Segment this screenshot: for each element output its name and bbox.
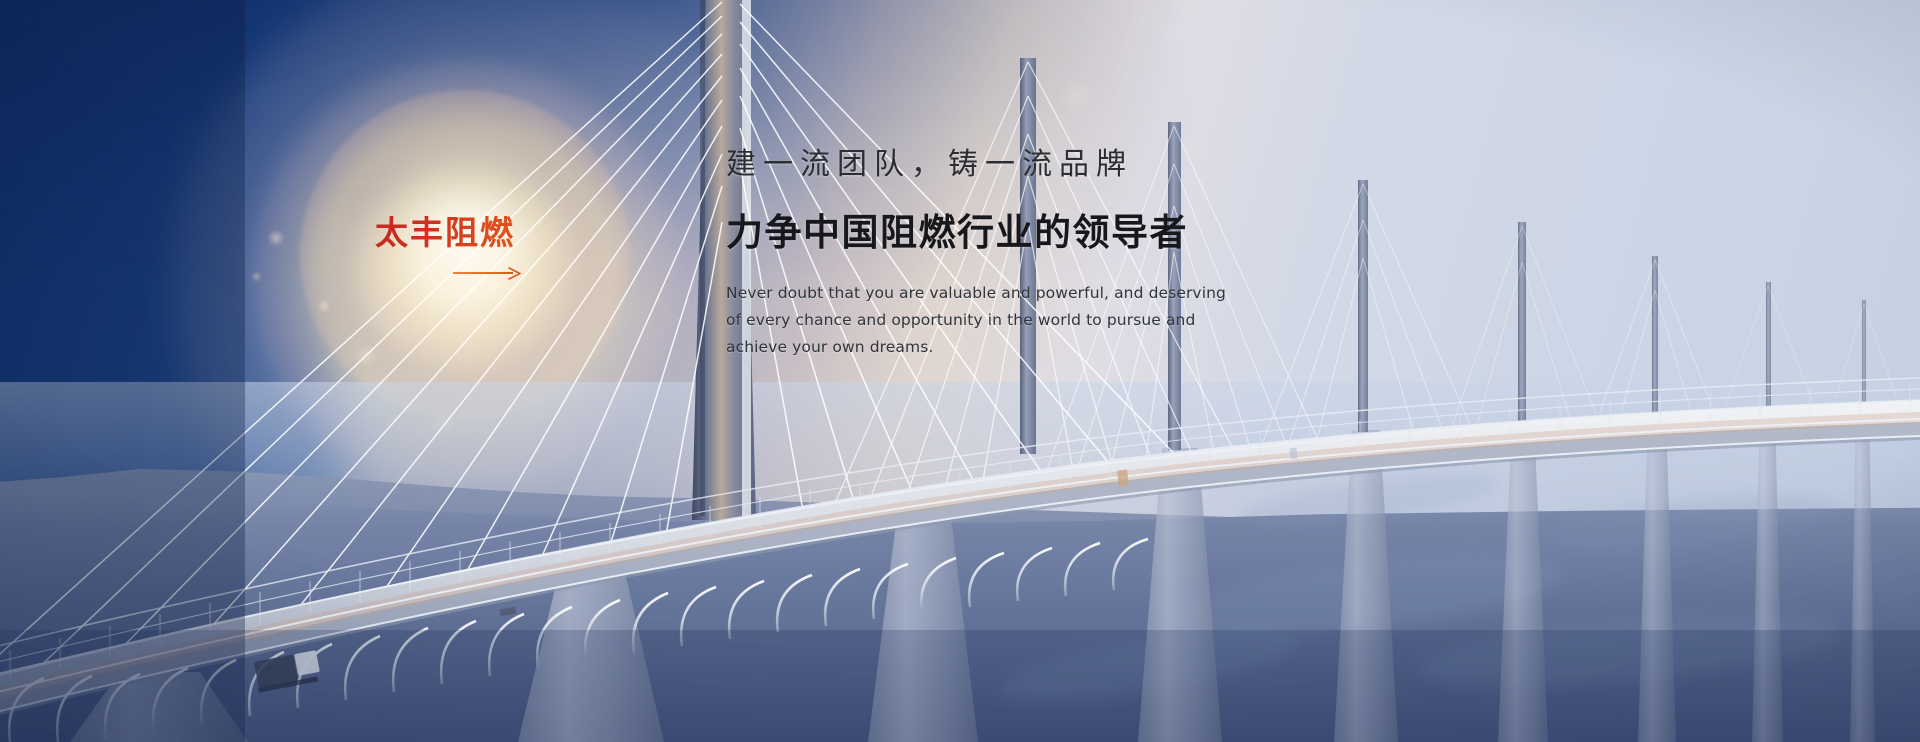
arrow-right-icon bbox=[453, 266, 521, 278]
description-paragraph: Never doubt that you are valuable and po… bbox=[726, 280, 1196, 361]
description-line: of every chance and opportunity in the w… bbox=[726, 307, 1196, 334]
arrow-head bbox=[508, 267, 521, 280]
hero-banner: 太丰阻燃 建一流团队，铸一流品牌 力争中国阻燃行业的领导者 Never doub… bbox=[0, 0, 1920, 742]
description-line: achieve your own dreams. bbox=[726, 334, 1196, 361]
page-title: 力争中国阻燃行业的领导者 bbox=[726, 214, 1486, 251]
arrow-shaft bbox=[453, 272, 513, 274]
description-line: Never doubt that you are valuable and po… bbox=[726, 280, 1196, 307]
tagline: 建一流团队，铸一流品牌 bbox=[726, 150, 1486, 180]
headline-copy-block: 建一流团队，铸一流品牌 力争中国阻燃行业的领导者 Never doubt tha… bbox=[726, 150, 1486, 361]
brand-logo[interactable]: 太丰阻燃 bbox=[375, 216, 535, 278]
brand-logo-text: 太丰阻燃 bbox=[375, 216, 535, 249]
banner-content: 太丰阻燃 建一流团队，铸一流品牌 力争中国阻燃行业的领导者 Never doub… bbox=[0, 0, 1920, 742]
